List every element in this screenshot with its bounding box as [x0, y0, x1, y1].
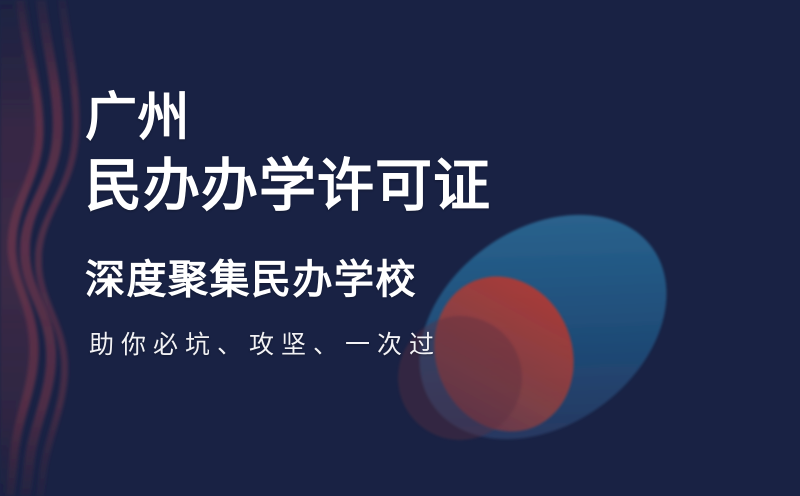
- wave-ribbon-decoration: [0, 0, 80, 496]
- title-line-license: 民办办学许可证: [85, 153, 491, 219]
- subtitle-sub-text: 助你必坑、攻坚、一次过: [89, 330, 441, 360]
- banner-content: 广州 民办办学许可证 深度聚集民办学校 助你必坑、攻坚、一次过: [85, 0, 725, 496]
- banner-subtitle-block: 深度聚集民办学校 助你必坑、攻坚、一次过: [85, 256, 441, 360]
- title-line-city: 广州: [85, 88, 491, 148]
- promo-banner: 广州 民办办学许可证 深度聚集民办学校 助你必坑、攻坚、一次过: [0, 0, 800, 496]
- subtitle-main-text: 深度聚集民办学校: [85, 256, 441, 304]
- banner-title-block: 广州 民办办学许可证: [85, 88, 491, 219]
